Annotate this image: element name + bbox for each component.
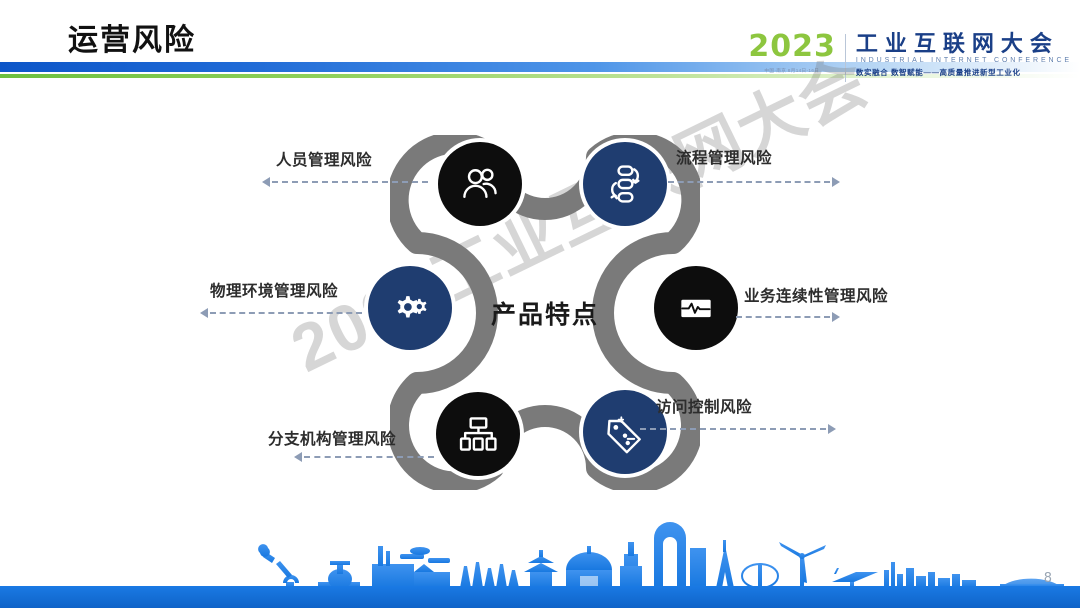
- logo-name-cn: 工业互联网大会: [856, 32, 1072, 55]
- node-business-continuity[interactable]: [654, 266, 738, 350]
- label-business-continuity-risk: 业务连续性管理风险: [744, 284, 888, 306]
- org-chart-icon: [456, 412, 500, 456]
- logo-year: 2023: [748, 32, 836, 62]
- dashed-line: [272, 181, 428, 183]
- connector-access-control: [640, 424, 836, 434]
- arrow-right-icon: [832, 177, 840, 187]
- arrow-right-icon: [828, 424, 836, 434]
- page-number: 8: [1044, 571, 1052, 586]
- logo-slogan: 数实融合 数智赋能——高质量推进新型工业化: [856, 67, 1072, 78]
- arrow-left-icon: [294, 452, 302, 462]
- skyline-decoration: [0, 520, 1080, 608]
- label-physical-env-risk: 物理环境管理风险: [210, 279, 338, 301]
- node-process[interactable]: [583, 142, 667, 226]
- connector-business-continuity: [736, 312, 840, 322]
- arrow-left-icon: [262, 177, 270, 187]
- arrow-left-icon: [200, 308, 208, 318]
- logo-year-block: 2023 中国·南京 8月14日-16日: [748, 32, 845, 74]
- arrow-right-icon: [832, 312, 840, 322]
- dashed-line: [736, 316, 830, 318]
- node-physical-env[interactable]: [368, 266, 452, 350]
- monitor-pulse-icon: [674, 286, 718, 330]
- connector-physical-env: [200, 308, 362, 318]
- logo-name-en: INDUSTRIAL INTERNET CONFERENCE: [856, 57, 1072, 64]
- label-people-risk: 人员管理风险: [276, 148, 372, 170]
- logo-date: 中国·南京 8月14日-16日: [765, 67, 820, 73]
- node-branch-org[interactable]: [436, 392, 520, 476]
- workflow-icon: [603, 162, 647, 206]
- slide: 运营风险 2023 中国·南京 8月14日-16日 工业互联网大会 INDUST…: [0, 0, 1080, 608]
- label-access-control-risk: 访问控制风险: [656, 395, 752, 417]
- dashed-line: [304, 456, 434, 458]
- conference-logo: 2023 中国·南京 8月14日-16日 工业互联网大会 INDUSTRIAL …: [748, 32, 1072, 88]
- label-branch-org-risk: 分支机构管理风险: [268, 427, 396, 449]
- connector-branch-org: [294, 452, 434, 462]
- connector-process: [668, 177, 840, 187]
- dashed-line: [640, 428, 826, 430]
- dashed-line: [210, 312, 362, 314]
- label-process-risk: 流程管理风险: [676, 146, 772, 168]
- logo-name-block: 工业互联网大会 INDUSTRIAL INTERNET CONFERENCE 数…: [846, 32, 1072, 78]
- dashed-line: [668, 181, 830, 183]
- connector-people: [262, 177, 428, 187]
- page-title: 运营风险: [68, 24, 196, 57]
- users-icon: [458, 162, 502, 206]
- gears-icon: [388, 286, 432, 330]
- node-people[interactable]: [438, 142, 522, 226]
